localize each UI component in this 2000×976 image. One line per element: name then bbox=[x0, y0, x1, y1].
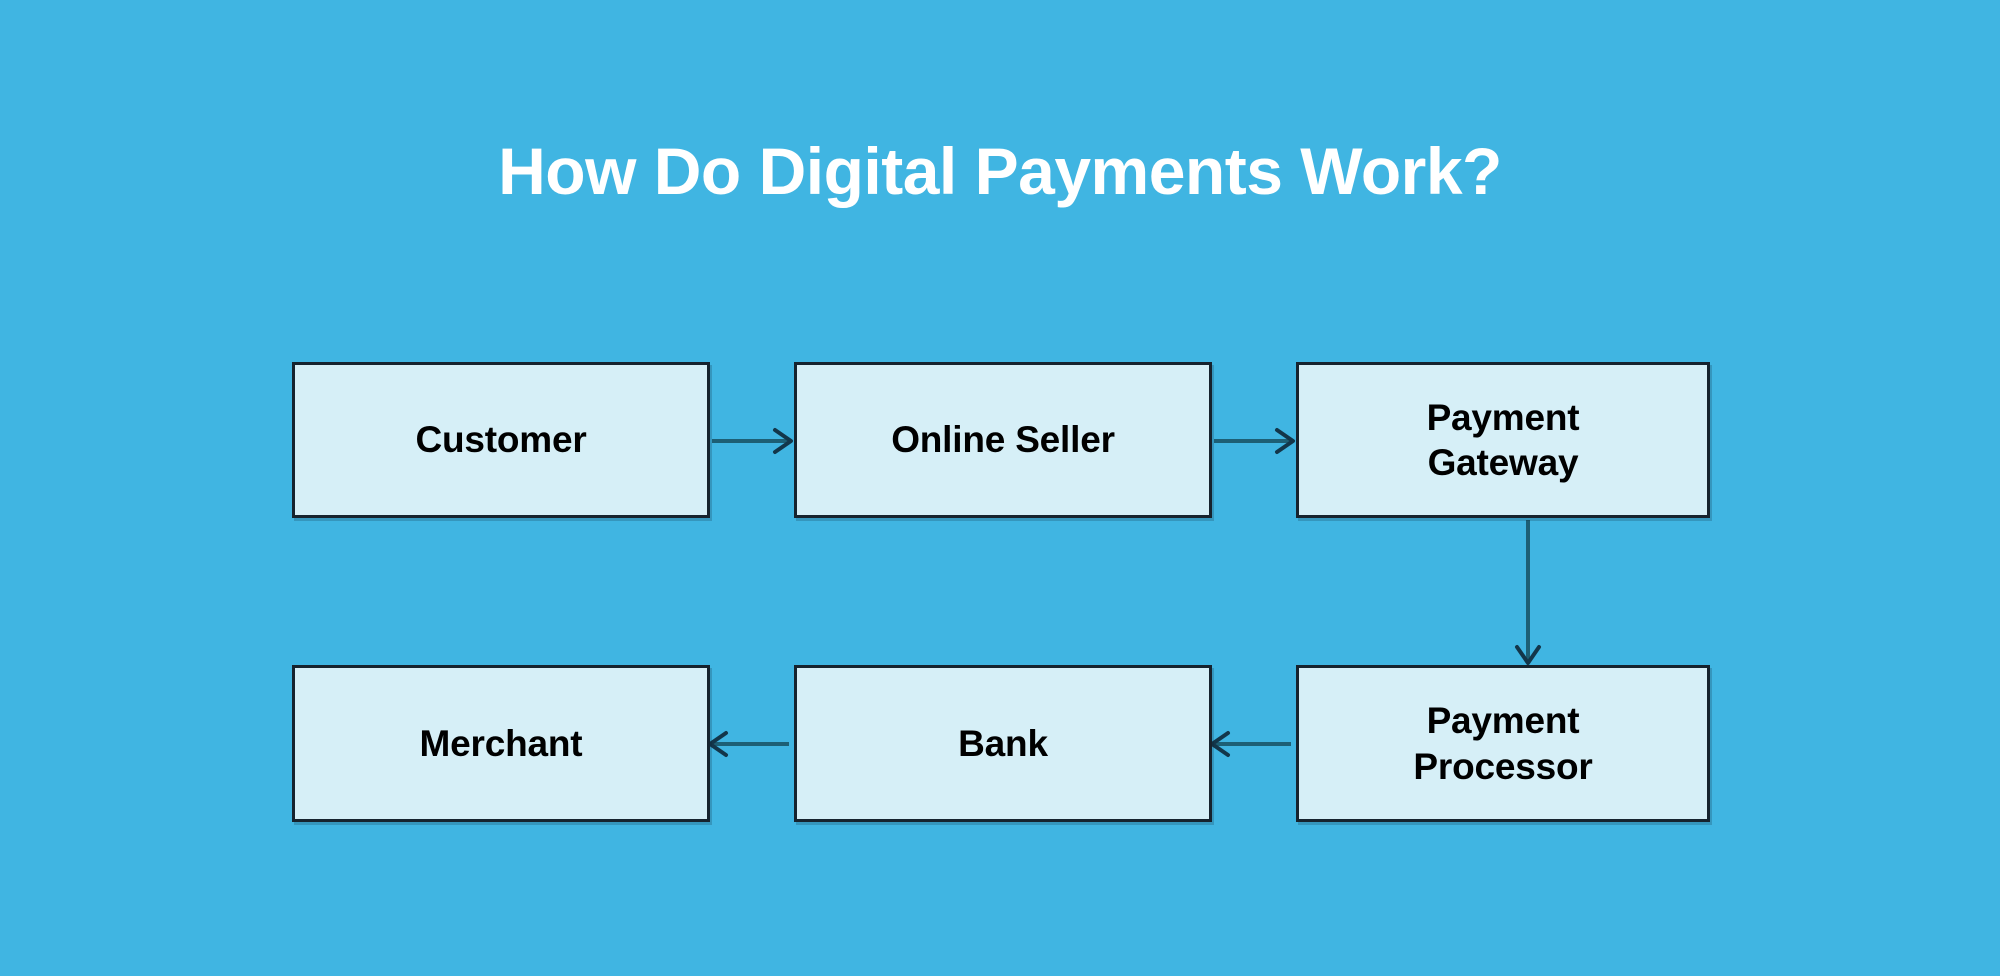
connector-payment-gateway-to-payment-processor bbox=[1517, 520, 1539, 663]
connector-online-seller-to-payment-gateway bbox=[1214, 430, 1293, 452]
node-merchant-label: Merchant bbox=[410, 721, 593, 766]
node-payment-gateway-label: Payment Gateway bbox=[1417, 395, 1590, 485]
node-payment-processor[interactable]: Payment Processor bbox=[1296, 665, 1710, 822]
connector-bank-to-merchant bbox=[710, 733, 789, 755]
page-title: How Do Digital Payments Work? bbox=[0, 135, 2000, 208]
node-customer[interactable]: Customer bbox=[292, 362, 710, 518]
node-online-seller-label: Online Seller bbox=[881, 417, 1125, 462]
node-bank[interactable]: Bank bbox=[794, 665, 1212, 822]
node-online-seller[interactable]: Online Seller bbox=[794, 362, 1212, 518]
connector-customer-to-online-seller bbox=[712, 430, 791, 452]
connector-payment-processor-to-bank bbox=[1212, 733, 1291, 755]
node-customer-label: Customer bbox=[405, 417, 596, 462]
node-payment-gateway[interactable]: Payment Gateway bbox=[1296, 362, 1710, 518]
node-merchant[interactable]: Merchant bbox=[292, 665, 710, 822]
node-payment-processor-label: Payment Processor bbox=[1403, 698, 1602, 788]
diagram-canvas: How Do Digital Payments Work? Customer bbox=[0, 0, 2000, 976]
node-bank-label: Bank bbox=[948, 721, 1058, 766]
